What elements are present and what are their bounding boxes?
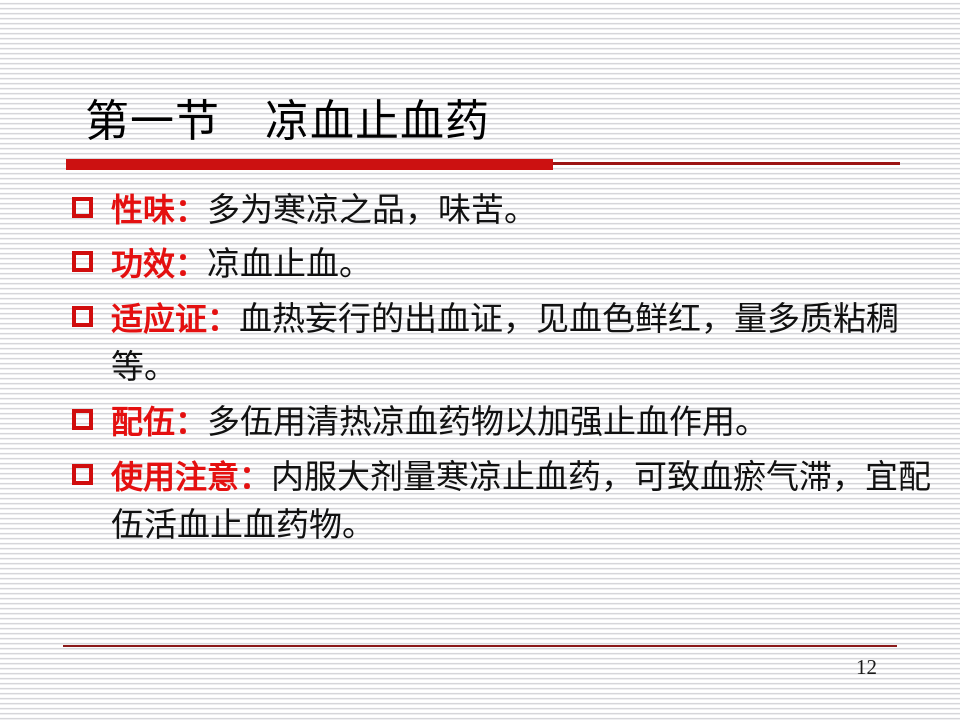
- list-item-content: 性味：多为寒凉之品，味苦。: [111, 186, 938, 235]
- list-item-label: 适应证：: [111, 301, 239, 337]
- list-item-content: 功效：凉血止血。: [111, 240, 938, 289]
- header-divider-thin-tail: [553, 162, 900, 165]
- page-number: 12: [856, 655, 916, 680]
- list-item: 适应证：血热妄行的出血证，见血色鲜红，量多质粘稠等。: [72, 295, 938, 392]
- square-bullet-icon: [72, 464, 93, 485]
- list-item-content: 适应证：血热妄行的出血证，见血色鲜红，量多质粘稠等。: [111, 295, 938, 392]
- square-bullet-icon: [72, 306, 93, 327]
- list-item-text: 多为寒凉之品，味苦。: [207, 193, 537, 229]
- list-item-content: 配伍：多伍用清热凉血药物以加强止血作用。: [111, 398, 938, 447]
- list-item-label: 使用注意：: [111, 459, 271, 495]
- footer-divider: [63, 645, 897, 647]
- square-bullet-icon: [72, 251, 93, 272]
- list-item-label: 性味：: [111, 192, 207, 228]
- list-item: 性味：多为寒凉之品，味苦。: [72, 186, 938, 235]
- list-item-text: 凉血止血。: [207, 247, 372, 283]
- list-item-label: 配伍：: [111, 404, 207, 440]
- page-title-text: 第一节 凉血止血药: [85, 92, 905, 152]
- list-item: 配伍：多伍用清热凉血药物以加强止血作用。: [72, 398, 938, 447]
- list-item-text: 多伍用清热凉血药物以加强止血作用。: [207, 405, 768, 441]
- header-divider: [66, 159, 900, 170]
- content-bullet-list: 性味：多为寒凉之品，味苦。 功效：凉血止血。 适应证：血热妄行的出血证，见血色鲜…: [72, 186, 938, 550]
- list-item: 使用注意：内服大剂量寒凉止血药，可致血瘀气滞，宜配伍活血止血药物。: [72, 453, 938, 550]
- list-item-label: 功效：: [111, 246, 207, 282]
- list-item: 功效：凉血止血。: [72, 240, 938, 289]
- square-bullet-icon: [72, 409, 93, 430]
- list-item-content: 使用注意：内服大剂量寒凉止血药，可致血瘀气滞，宜配伍活血止血药物。: [111, 453, 938, 550]
- page-title: 第一节 凉血止血药: [85, 92, 905, 154]
- header-divider-thick-bar: [66, 159, 553, 170]
- square-bullet-icon: [72, 197, 93, 218]
- slide-canvas: 第一节 凉血止血药 性味：多为寒凉之品，味苦。 功效：凉血止血。 适应证：血热妄…: [0, 0, 960, 720]
